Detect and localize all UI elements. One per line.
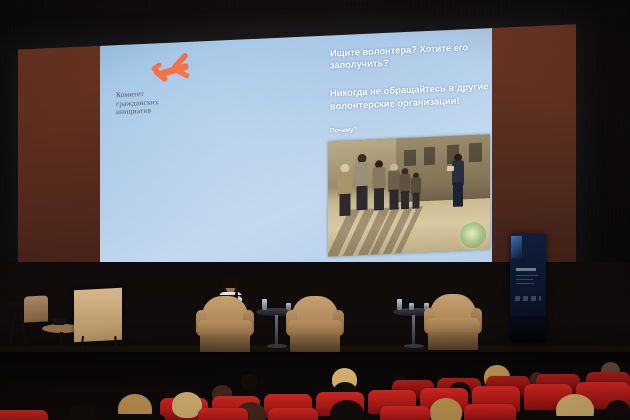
flipchart-easel — [74, 288, 122, 343]
theater-seat — [198, 408, 248, 420]
logo-text-block: Комитет гражданских инициатив — [116, 86, 226, 117]
banner-title-bar — [516, 268, 536, 271]
stage-chair — [24, 295, 48, 322]
theater-seat — [0, 410, 48, 420]
projection-screen: Комитет гражданских инициатив Ищите воло… — [18, 24, 576, 299]
slide-heading-2: Никогда не обращайтесь в другие волонтер… — [330, 79, 492, 112]
photo-person — [370, 160, 388, 221]
theater-seat — [268, 408, 318, 420]
audience-head — [606, 400, 630, 420]
drinking-glass — [409, 303, 414, 310]
organization-logo: Комитет гражданских инициатив — [116, 52, 226, 117]
armchair — [196, 296, 254, 352]
photo-person — [352, 153, 371, 221]
slide-caption: Почему? — [330, 126, 357, 134]
audience-shoulders — [104, 414, 166, 420]
theater-seat — [464, 404, 516, 420]
presenter-hair — [221, 276, 240, 288]
audience-head — [330, 400, 364, 420]
armchair — [424, 294, 482, 350]
photo-speaker-with-megaphone — [451, 154, 465, 217]
water-bottle — [262, 299, 267, 310]
megaphone-icon — [447, 166, 454, 171]
audience-head — [241, 374, 257, 389]
banner-footer — [510, 316, 546, 342]
photo-person — [412, 172, 420, 218]
water-bottle — [397, 299, 402, 310]
banner-sponsor-logos — [515, 296, 541, 301]
armchair — [286, 296, 344, 352]
audience-head — [68, 404, 96, 420]
audience-area — [0, 352, 630, 420]
theater-seat — [380, 406, 430, 420]
slide-photo — [328, 134, 490, 256]
slide-heading-1: Ищите волонтера? Хотите его заполучить? — [330, 40, 492, 72]
banner-accent — [511, 236, 522, 258]
audience-shoulders — [540, 416, 610, 420]
orange-bird-icon — [150, 54, 196, 86]
auditorium-scene: Комитет гражданских инициатив Ищите воло… — [0, 0, 630, 420]
audience-head — [430, 398, 462, 420]
equipment-box — [52, 318, 66, 325]
photo-person — [401, 168, 410, 219]
presentation-slide: Комитет гражданских инициатив Ищите воло… — [100, 28, 492, 296]
roll-up-banner — [510, 234, 546, 342]
